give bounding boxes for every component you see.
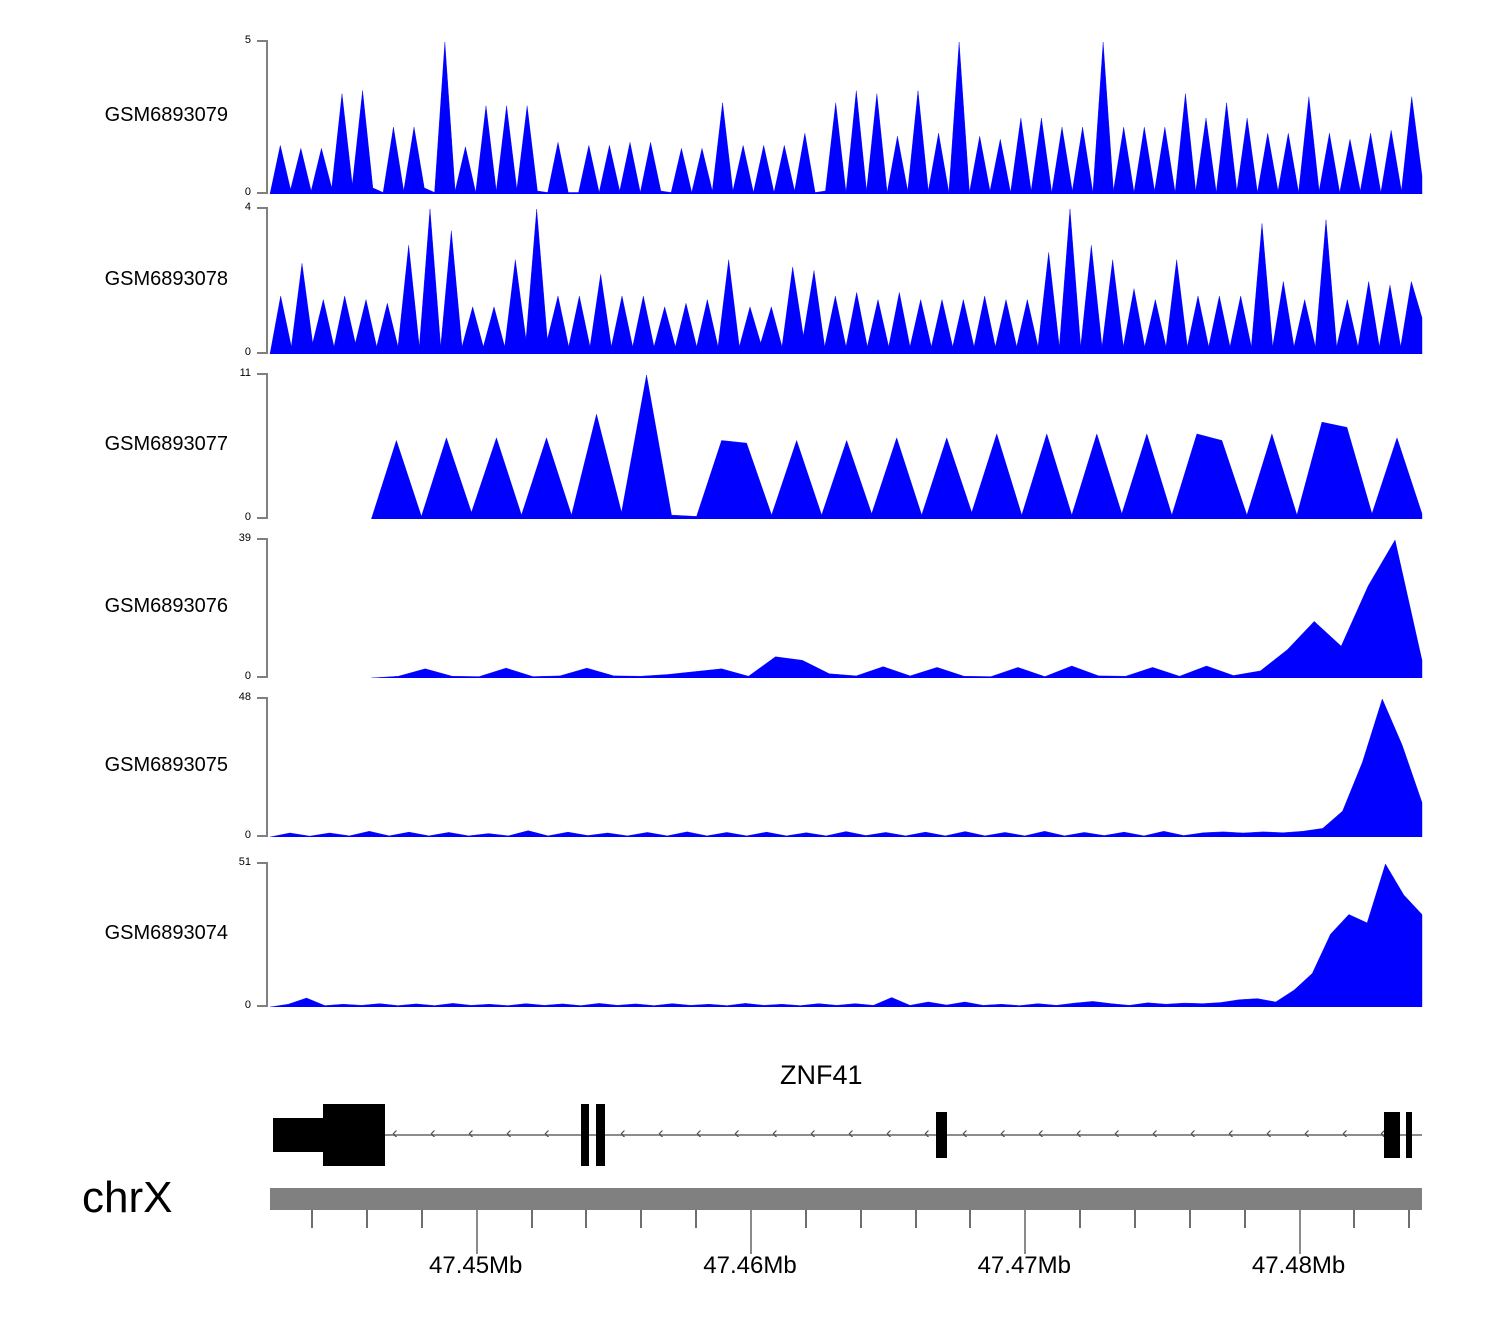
- gene-exon-cds-1: [323, 1104, 385, 1166]
- ruler-tick-minor: [915, 1210, 917, 1228]
- ruler-tick-minor: [1134, 1210, 1136, 1228]
- coverage-area-GSM6893074: [0, 862, 1500, 1007]
- ruler-tick-minor: [969, 1210, 971, 1228]
- strand-arrow-icon: ‹: [848, 1124, 854, 1141]
- strand-arrow-icon: ‹: [430, 1124, 436, 1141]
- ruler-tick-minor: [1189, 1210, 1191, 1228]
- ruler-tick-minor: [1408, 1210, 1410, 1228]
- ruler-tick-minor: [1079, 1210, 1081, 1228]
- ruler-bar: [270, 1188, 1422, 1210]
- ruler-tick-label: 47.45Mb: [429, 1252, 522, 1280]
- ruler-tick-minor: [366, 1210, 368, 1228]
- ruler-tick-major: [1024, 1210, 1026, 1254]
- coverage-area-GSM6893079: [0, 40, 1500, 194]
- ruler-tick-minor: [421, 1210, 423, 1228]
- genome-browser-view: GSM689307950GSM689307840GSM6893077110GSM…: [0, 0, 1500, 1320]
- strand-arrow-icon: ‹: [1152, 1124, 1158, 1141]
- strand-arrow-icon: ‹: [1228, 1124, 1234, 1141]
- gene-exon-5: [1384, 1112, 1400, 1158]
- ruler-tick-label: 47.46Mb: [703, 1252, 796, 1280]
- coverage-area-GSM6893078: [0, 207, 1500, 354]
- strand-arrow-icon: ‹: [734, 1124, 740, 1141]
- strand-arrow-icon: ‹: [1342, 1124, 1348, 1141]
- ruler-tick-label: 47.48Mb: [1252, 1252, 1345, 1280]
- strand-arrow-icon: ‹: [1076, 1124, 1082, 1141]
- ruler-tick-minor: [311, 1210, 313, 1228]
- strand-arrow-icon: ‹: [810, 1124, 816, 1141]
- strand-arrow-icon: ‹: [658, 1124, 664, 1141]
- strand-arrow-icon: ‹: [1114, 1124, 1120, 1141]
- ruler-tick-major: [1299, 1210, 1301, 1254]
- strand-arrow-icon: ‹: [886, 1124, 892, 1141]
- coverage-area-GSM6893077: [0, 373, 1500, 519]
- gene-exon-utr-1: [273, 1118, 323, 1152]
- strand-arrow-icon: ‹: [924, 1124, 930, 1141]
- strand-arrow-icon: ‹: [544, 1124, 550, 1141]
- ruler-tick-minor: [640, 1210, 642, 1228]
- strand-arrow-icon: ‹: [962, 1124, 968, 1141]
- ruler-tick-major: [476, 1210, 478, 1254]
- chromosome-label: chrX: [82, 1173, 172, 1223]
- strand-arrow-icon: ‹: [772, 1124, 778, 1141]
- gene-exon-3: [596, 1104, 605, 1166]
- strand-arrow-icon: ‹: [506, 1124, 512, 1141]
- coverage-area-GSM6893075: [0, 697, 1500, 837]
- strand-arrow-icon: ‹: [1266, 1124, 1272, 1141]
- strand-arrow-icon: ‹: [392, 1124, 398, 1141]
- strand-arrow-icon: ‹: [1190, 1124, 1196, 1141]
- gene-exon-4: [936, 1112, 948, 1158]
- strand-arrow-icon: ‹: [696, 1124, 702, 1141]
- ruler-tick-minor: [695, 1210, 697, 1228]
- ruler-tick-minor: [860, 1210, 862, 1228]
- ruler-tick-minor: [805, 1210, 807, 1228]
- ruler-tick-major: [750, 1210, 752, 1254]
- strand-arrow-icon: ‹: [620, 1124, 626, 1141]
- gene-exon-2: [581, 1104, 589, 1166]
- strand-arrow-icon: ‹: [468, 1124, 474, 1141]
- strand-arrow-icon: ‹: [1304, 1124, 1310, 1141]
- gene-name-label: ZNF41: [780, 1060, 863, 1091]
- gene-exon-6: [1406, 1112, 1412, 1158]
- ruler-tick-minor: [585, 1210, 587, 1228]
- ruler-tick-minor: [1244, 1210, 1246, 1228]
- strand-arrow-icon: ‹: [1038, 1124, 1044, 1141]
- coverage-area-GSM6893076: [0, 538, 1500, 678]
- ruler-tick-label: 47.47Mb: [978, 1252, 1071, 1280]
- ruler-tick-minor: [531, 1210, 533, 1228]
- strand-arrow-icon: ‹: [1000, 1124, 1006, 1141]
- ruler-tick-minor: [1353, 1210, 1355, 1228]
